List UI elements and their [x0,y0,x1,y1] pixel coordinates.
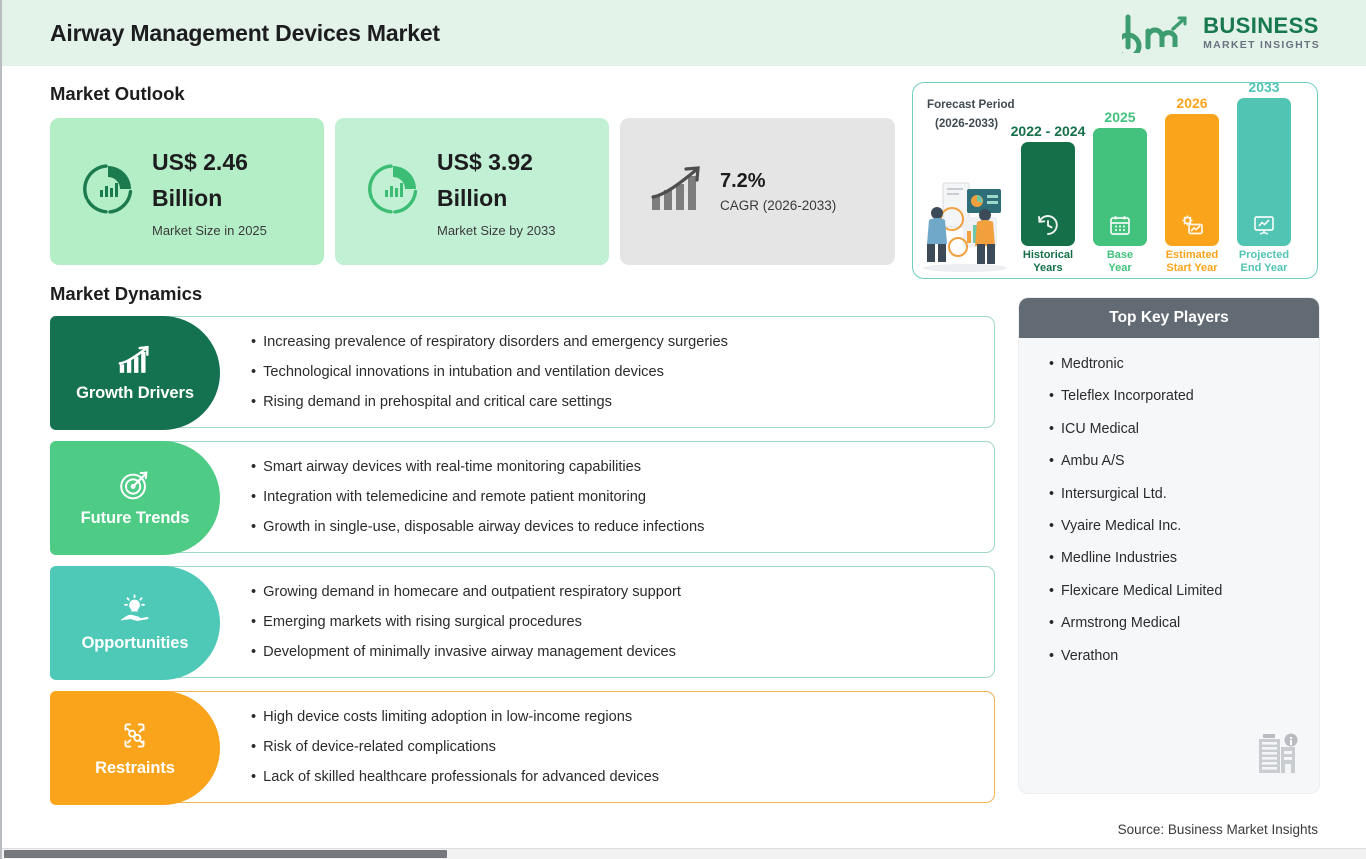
bullet-text: Integration with telemedicine and remote… [263,489,646,505]
dynamics-row-label: Future Trends [81,509,190,528]
target-dart-icon [116,469,154,502]
market-size-2033-text: US$ 3.92 Billion Market Size by 2033 [437,145,556,237]
key-players-list: •Medtronic •Teleflex Incorporated •ICU M… [1019,338,1319,664]
bullet-marker: • [1049,615,1054,631]
player-name: ICU Medical [1061,421,1139,437]
bar-column-base: 2025 Base Year [1091,109,1149,277]
list-item: •Armstrong Medical [1049,615,1319,631]
bullet-text: Risk of device-related complications [263,739,496,755]
bullet-item: •Lack of skilled healthcare professional… [251,769,980,785]
bullet-marker: • [251,584,256,600]
bar-year-label: 2026 [1176,95,1207,111]
growth-drivers-bullets: •Increasing prevalence of respiratory di… [251,317,980,427]
card-label: Market Size by 2033 [437,223,556,238]
market-size-2025-text: US$ 2.46 Billion Market Size in 2025 [152,145,267,237]
bullet-marker: • [251,739,256,755]
bullet-marker: • [1049,486,1054,502]
future-trends-pill[interactable]: Future Trends [50,441,220,555]
growth-arrow-icon [648,163,706,220]
company-building-icon [1255,729,1303,777]
cagr-value: 7.2% [720,170,836,193]
player-name: Teleflex Incorporated [1061,388,1194,404]
history-clock-icon [1036,213,1060,237]
bar-caption: Base Year [1107,249,1133,277]
list-item: •Medline Industries [1049,550,1319,566]
bullet-marker: • [1049,356,1054,372]
bullet-marker: • [251,769,256,785]
infographic-page: Airway Management Devices Market BUSINES… [0,0,1366,859]
bullet-text: Growth in single-use, disposable airway … [263,519,704,535]
bar-rect [1165,114,1219,246]
bullet-marker: • [1049,583,1054,599]
calendar-icon [1108,213,1132,237]
bar-rect [1237,98,1291,246]
bar-rect [1093,128,1147,246]
bar-column-projected: 2033 Projected End Year [1235,82,1293,276]
dynamics-row-future-trends: Future Trends •Smart airway devices with… [50,441,995,553]
bmi-logo-icon [1122,13,1194,53]
bullet-marker: • [251,394,256,410]
brand-logo: BUSINESS MARKET INSIGHTS [1122,13,1320,53]
bullet-item: •Integration with telemedicine and remot… [251,489,980,505]
growth-drivers-pill[interactable]: Growth Drivers [50,316,220,430]
card-value-line1: US$ 2.46 [152,145,267,181]
logo-subtitle-text: MARKET INSIGHTS [1203,40,1320,51]
market-size-2033-card: US$ 3.92 Billion Market Size by 2033 [335,118,609,265]
top-key-players-title: Top Key Players [1109,309,1228,327]
bullet-marker: • [1049,648,1054,664]
card-value-line2: Billion [152,181,267,217]
dynamics-row-restraints: Restraints •High device costs limiting a… [50,691,995,803]
source-note: Source: Business Market Insights [1118,822,1318,837]
dynamics-row-growth-drivers: Growth Drivers •Increasing prevalence of… [50,316,995,428]
constraint-brackets-icon [116,719,154,752]
bar-column-historical: 2022 - 2024 Historical Years [1019,123,1077,277]
player-name: Verathon [1061,648,1118,664]
top-key-players-panel: Top Key Players •Medtronic •Teleflex Inc… [1019,298,1319,793]
restraints-pill[interactable]: Restraints [50,691,220,805]
horizontal-scrollbar[interactable] [2,848,1366,859]
bar-caption: Estimated Start Year [1166,249,1219,277]
bullet-marker: • [1049,550,1054,566]
forecast-period-card: Forecast Period (2026-2033) [912,82,1318,279]
card-label: Market Size in 2025 [152,223,267,238]
list-item: •Intersurgical Ltd. [1049,486,1319,502]
bullet-marker: • [251,519,256,535]
opportunities-pill[interactable]: Opportunities [50,566,220,680]
restraints-bullets: •High device costs limiting adoption in … [251,692,980,802]
bullet-text: Rising demand in prehospital and critica… [263,394,612,410]
bullet-item: •Technological innovations in intubation… [251,364,980,380]
list-item: •Medtronic [1049,356,1319,372]
forecast-label-line1: Forecast Period [927,98,1015,111]
bullet-item: •Development of minimally invasive airwa… [251,644,980,660]
bullet-text: Development of minimally invasive airway… [263,644,676,660]
donut-chart-icon [365,161,421,222]
header-bar: Airway Management Devices Market BUSINES… [2,0,1366,66]
bullet-text: Increasing prevalence of respiratory dis… [263,334,728,350]
bullet-item: •Growth in single-use, disposable airway… [251,519,980,535]
bullet-marker: • [251,489,256,505]
player-name: Ambu A/S [1061,453,1125,469]
top-key-players-header: Top Key Players [1019,298,1319,338]
player-name: Vyaire Medical Inc. [1061,518,1181,534]
list-item: •Verathon [1049,648,1319,664]
lightbulb-hand-icon [116,594,154,627]
card-value-line1: US$ 3.92 [437,145,556,181]
bullet-marker: • [1049,421,1054,437]
bullet-text: Lack of skilled healthcare professionals… [263,769,659,785]
bullet-item: •Growing demand in homecare and outpatie… [251,584,980,600]
bullet-marker: • [251,364,256,380]
bar-rect [1021,142,1075,246]
cagr-card: 7.2% CAGR (2026-2033) [620,118,895,265]
cagr-label: CAGR (2026-2033) [720,198,836,213]
bar-column-estimated: 2026 Estimated Start Year [1163,95,1221,277]
opportunities-bullets: •Growing demand in homecare and outpatie… [251,567,980,677]
player-name: Intersurgical Ltd. [1061,486,1167,502]
bullet-item: •Emerging markets with rising surgical p… [251,614,980,630]
bar-year-label: 2025 [1104,109,1135,125]
bullet-item: •Risk of device-related complications [251,739,980,755]
market-dynamics-rows: Growth Drivers •Increasing prevalence of… [50,316,995,816]
list-item: •ICU Medical [1049,421,1319,437]
cagr-text: 7.2% CAGR (2026-2033) [720,170,836,213]
bullet-text: Technological innovations in intubation … [263,364,664,380]
dynamics-row-label: Restraints [95,759,175,778]
market-outlook-heading: Market Outlook [50,83,185,105]
bullet-text: Smart airway devices with real-time moni… [263,459,641,475]
bullet-text: Emerging markets with rising surgical pr… [263,614,582,630]
forecast-period-label: Forecast Period (2026-2033) [927,95,1015,133]
growth-bar-chart-icon [116,344,154,377]
player-name: Flexicare Medical Limited [1061,583,1222,599]
gear-chart-icon [1180,213,1204,237]
logo-business-text: BUSINESS [1203,15,1320,37]
bullet-marker: • [251,709,256,725]
bullet-marker: • [251,644,256,660]
dynamics-row-opportunities: Opportunities •Growing demand in homecar… [50,566,995,678]
list-item: •Ambu A/S [1049,453,1319,469]
bar-caption: Projected End Year [1239,249,1289,277]
list-item: •Teleflex Incorporated [1049,388,1319,404]
forecast-label-line2: (2026-2033) [927,114,1015,133]
scrollbar-thumb[interactable] [4,850,447,858]
bar-year-label: 2033 [1248,82,1279,95]
list-item: •Flexicare Medical Limited [1049,583,1319,599]
bar-caption: Historical Years [1023,249,1073,277]
dynamics-row-label: Growth Drivers [76,384,194,403]
bullet-marker: • [1049,388,1054,404]
list-item: •Vyaire Medical Inc. [1049,518,1319,534]
market-dynamics-heading: Market Dynamics [50,283,202,305]
dynamics-row-label: Opportunities [82,634,189,653]
bullet-item: •High device costs limiting adoption in … [251,709,980,725]
forecast-bar-chart: 2022 - 2024 Historical Years [1013,83,1318,279]
market-outlook-cards: US$ 2.46 Billion Market Size in 2025 [50,118,895,265]
bullet-item: •Rising demand in prehospital and critic… [251,394,980,410]
bullet-item: •Smart airway devices with real-time mon… [251,459,980,475]
player-name: Medtronic [1061,356,1124,372]
page-title: Airway Management Devices Market [50,20,440,47]
bar-year-label: 2022 - 2024 [1011,123,1086,139]
market-size-2025-card: US$ 2.46 Billion Market Size in 2025 [50,118,324,265]
presentation-icon [1252,213,1276,237]
bullet-text: Growing demand in homecare and outpatien… [263,584,681,600]
bullet-marker: • [251,459,256,475]
bullet-text: High device costs limiting adoption in l… [263,709,632,725]
analytics-team-illustration [919,175,1015,273]
bullet-marker: • [1049,518,1054,534]
bullet-marker: • [251,334,256,350]
future-trends-bullets: •Smart airway devices with real-time mon… [251,442,980,552]
bullet-item: •Increasing prevalence of respiratory di… [251,334,980,350]
player-name: Medline Industries [1061,550,1177,566]
bullet-marker: • [251,614,256,630]
donut-chart-icon [80,161,136,222]
bullet-marker: • [1049,453,1054,469]
logo-wordmark: BUSINESS MARKET INSIGHTS [1203,15,1320,51]
card-value-line2: Billion [437,181,556,217]
player-name: Armstrong Medical [1061,615,1180,631]
